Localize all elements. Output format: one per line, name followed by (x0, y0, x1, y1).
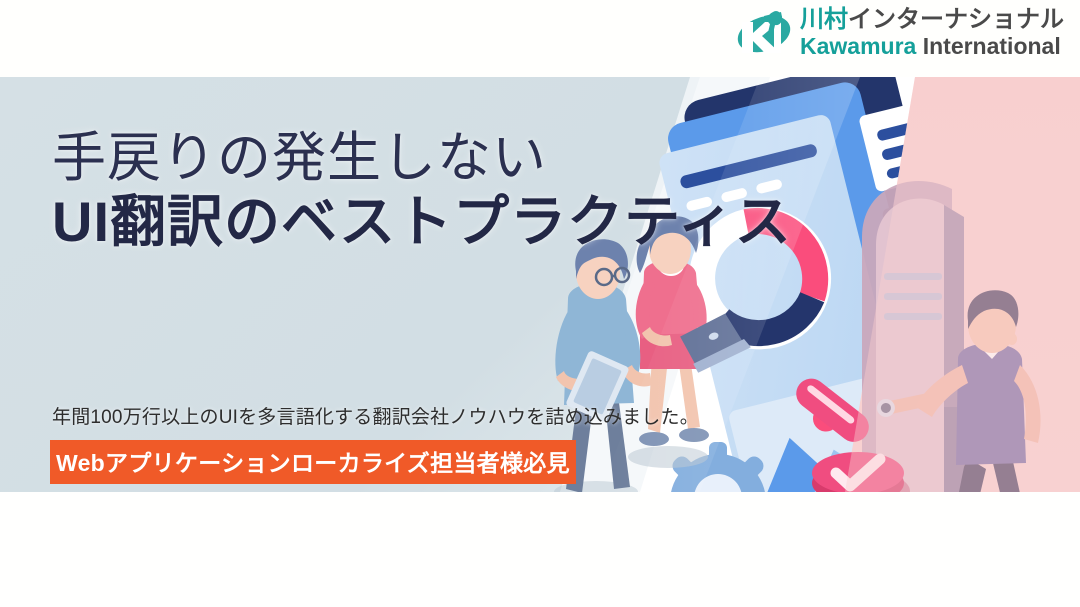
logo-en-line: Kawamura International (800, 35, 1064, 58)
hero-banner: 手戻りの発生しない UI翻訳のベストプラクティス 年間100万行以上のUIを多言… (0, 77, 1080, 492)
hero-copy: 手戻りの発生しない UI翻訳のベストプラクティス (52, 127, 792, 255)
ki-monogram-logo-icon (734, 8, 792, 58)
hero-tagline-wrapper: Webアプリケーションローカライズ担当者様必見 (50, 440, 576, 484)
logo-jp-suffix: インターナショナル (848, 6, 1064, 33)
hero-tagline-badge: Webアプリケーションローカライズ担当者様必見 (50, 440, 576, 484)
headline-line-2: UI翻訳のベストプラクティス (52, 189, 792, 255)
headline-line-1: 手戻りの発生しない (52, 127, 792, 191)
page-root: 川村インターナショナル Kawamura International (0, 0, 1080, 607)
logo-jp-line: 川村インターナショナル (800, 8, 1064, 32)
logo-wordmark: 川村インターナショナル Kawamura International (800, 8, 1064, 58)
site-header: 川村インターナショナル Kawamura International (0, 0, 1080, 77)
logo-jp-brand: 川村 (800, 6, 848, 33)
hero-subline: 年間100万行以上のUIを多言語化する翻訳会社ノウハウを詰め込みました。 (52, 402, 699, 429)
logo-en-brand: Kawamura (800, 33, 916, 59)
logo-en-suffix-word: International (923, 33, 1061, 59)
kawamura-international-logo[interactable]: 川村インターナショナル Kawamura International (734, 8, 1064, 58)
